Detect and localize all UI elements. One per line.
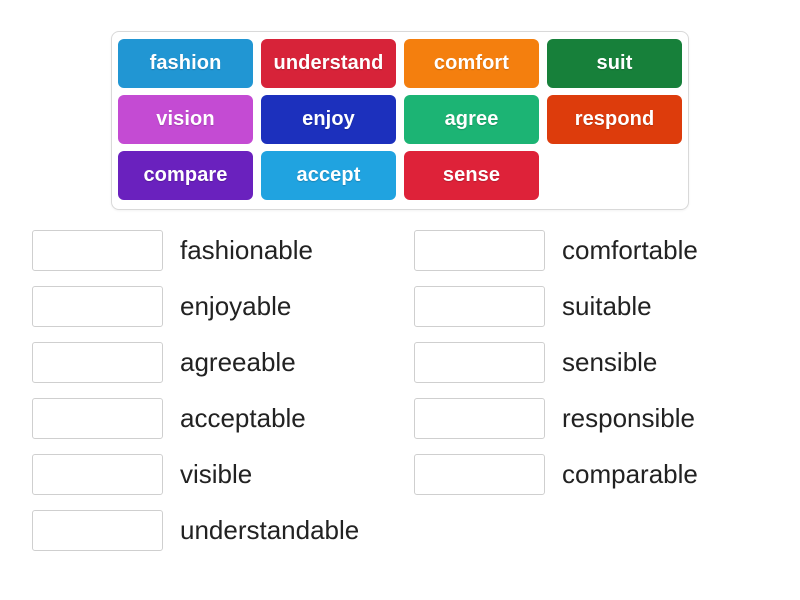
answer-label-enjoyable: enjoyable bbox=[180, 293, 291, 319]
word-bank-row: vision enjoy agree respond bbox=[118, 95, 682, 144]
drop-zone-sensible[interactable] bbox=[414, 342, 545, 383]
word-tile-comfort[interactable]: comfort bbox=[404, 39, 539, 88]
drop-zone-fashionable[interactable] bbox=[32, 230, 163, 271]
answer-column-right: comfortable suitable sensible responsibl… bbox=[414, 222, 794, 558]
word-bank-row: compare accept sense bbox=[118, 151, 682, 200]
word-tile-compare[interactable]: compare bbox=[118, 151, 253, 200]
drop-zone-visible[interactable] bbox=[32, 454, 163, 495]
answer-row: sensible bbox=[414, 334, 794, 390]
answer-label-acceptable: acceptable bbox=[180, 405, 306, 431]
answer-row: fashionable bbox=[32, 222, 412, 278]
answer-label-visible: visible bbox=[180, 461, 252, 487]
word-bank-empty-slot bbox=[547, 151, 682, 200]
answer-column-left: fashionable enjoyable agreeable acceptab… bbox=[32, 222, 412, 558]
word-bank-tray: fashion understand comfort suit vision e… bbox=[111, 31, 689, 210]
word-tile-fashion[interactable]: fashion bbox=[118, 39, 253, 88]
drop-zone-comparable[interactable] bbox=[414, 454, 545, 495]
word-tile-agree[interactable]: agree bbox=[404, 95, 539, 144]
word-tile-enjoy[interactable]: enjoy bbox=[261, 95, 396, 144]
answer-label-fashionable: fashionable bbox=[180, 237, 313, 263]
word-tile-accept[interactable]: accept bbox=[261, 151, 396, 200]
answer-label-comfortable: comfortable bbox=[562, 237, 698, 263]
answer-area: fashionable enjoyable agreeable acceptab… bbox=[0, 222, 800, 558]
answer-label-comparable: comparable bbox=[562, 461, 698, 487]
answer-row: agreeable bbox=[32, 334, 412, 390]
word-tile-respond[interactable]: respond bbox=[547, 95, 682, 144]
activity-page: fashion understand comfort suit vision e… bbox=[0, 0, 800, 600]
drop-zone-suitable[interactable] bbox=[414, 286, 545, 327]
answer-row: visible bbox=[32, 446, 412, 502]
answer-row: comparable bbox=[414, 446, 794, 502]
word-tile-suit[interactable]: suit bbox=[547, 39, 682, 88]
drop-zone-agreeable[interactable] bbox=[32, 342, 163, 383]
answer-label-understandable: understandable bbox=[180, 517, 359, 543]
drop-zone-responsible[interactable] bbox=[414, 398, 545, 439]
word-tile-vision[interactable]: vision bbox=[118, 95, 253, 144]
word-tile-sense[interactable]: sense bbox=[404, 151, 539, 200]
drop-zone-comfortable[interactable] bbox=[414, 230, 545, 271]
answer-row: responsible bbox=[414, 390, 794, 446]
word-bank-row: fashion understand comfort suit bbox=[118, 39, 682, 88]
answer-row: acceptable bbox=[32, 390, 412, 446]
drop-zone-acceptable[interactable] bbox=[32, 398, 163, 439]
answer-label-responsible: responsible bbox=[562, 405, 695, 431]
word-tile-understand[interactable]: understand bbox=[261, 39, 396, 88]
answer-row: understandable bbox=[32, 502, 412, 558]
answer-row: enjoyable bbox=[32, 278, 412, 334]
drop-zone-understandable[interactable] bbox=[32, 510, 163, 551]
drop-zone-enjoyable[interactable] bbox=[32, 286, 163, 327]
answer-label-sensible: sensible bbox=[562, 349, 657, 375]
answer-label-agreeable: agreeable bbox=[180, 349, 296, 375]
answer-row: comfortable bbox=[414, 222, 794, 278]
answer-row: suitable bbox=[414, 278, 794, 334]
answer-label-suitable: suitable bbox=[562, 293, 652, 319]
